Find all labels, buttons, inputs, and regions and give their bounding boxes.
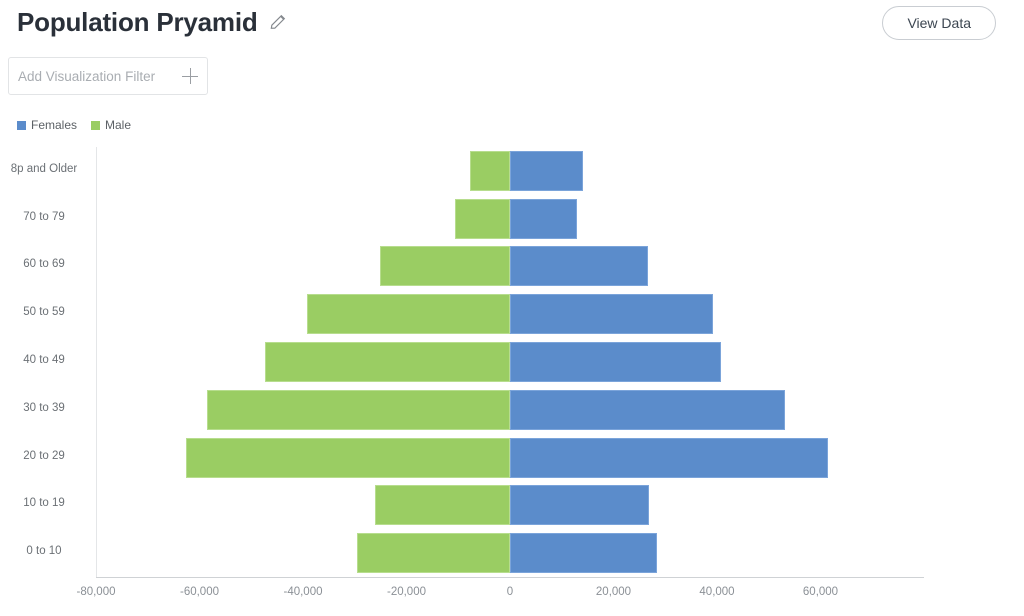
legend-item-male[interactable]: Male [91,118,131,132]
visualization-filter[interactable]: Add Visualization Filter [8,57,208,95]
bar-female[interactable] [510,438,828,478]
y-axis-label: 20 to 29 [0,450,88,462]
bar-male[interactable] [207,390,510,430]
bar-male[interactable] [265,342,510,382]
y-axis-label: 8p and Older [0,163,88,175]
bar-male[interactable] [380,246,510,286]
bar-female[interactable] [510,151,583,191]
x-axis-tick-label: -20,000 [387,586,426,598]
legend-swatch-male [91,121,100,130]
bar-row [96,151,924,191]
plus-icon[interactable] [177,63,203,89]
bar-female[interactable] [510,342,721,382]
y-axis-label: 50 to 59 [0,306,88,318]
x-axis-tick-label: -40,000 [283,586,322,598]
x-axis-line [96,577,924,578]
x-axis-tick-label: 0 [507,586,513,598]
bar-row [96,294,924,334]
bar-male[interactable] [470,151,510,191]
bar-male[interactable] [455,199,510,239]
legend-swatch-females [17,121,26,130]
x-axis-tick-label: 60,000 [803,586,838,598]
x-axis-tick-label: -60,000 [180,586,219,598]
bar-female[interactable] [510,246,648,286]
bar-row [96,390,924,430]
y-axis-label: 0 to 10 [0,545,88,557]
page-header: Population Pryamid View Data [0,0,1024,52]
bar-row [96,246,924,286]
x-axis-tick-label: 40,000 [699,586,734,598]
bar-row [96,342,924,382]
legend-label-females: Females [31,118,77,132]
page-title: Population Pryamid [17,6,258,38]
visualization-filter-placeholder[interactable]: Add Visualization Filter [9,69,177,84]
plot-area [96,147,924,577]
bar-row [96,199,924,239]
y-axis-label: 30 to 39 [0,402,88,414]
bar-row [96,485,924,525]
bar-female[interactable] [510,485,649,525]
population-pyramid-chart: 8p and Older70 to 7960 to 6950 to 5940 t… [0,140,1024,616]
y-axis-label: 70 to 79 [0,211,88,223]
bar-row [96,533,924,573]
legend-item-females[interactable]: Females [17,118,77,132]
x-axis-tick-label: -80,000 [76,586,115,598]
chart-legend: Females Male [17,118,131,132]
bar-male[interactable] [307,294,510,334]
x-axis-tick-label: 20,000 [596,586,631,598]
title-group: Population Pryamid [17,6,288,38]
bar-female[interactable] [510,533,657,573]
bar-female[interactable] [510,294,713,334]
bar-row [96,438,924,478]
y-axis-label: 60 to 69 [0,258,88,270]
y-axis-label: 40 to 49 [0,354,88,366]
bar-male[interactable] [186,438,510,478]
bar-female[interactable] [510,199,577,239]
y-axis-label: 10 to 19 [0,497,88,509]
view-data-button[interactable]: View Data [882,6,996,40]
legend-label-male: Male [105,118,131,132]
bar-male[interactable] [357,533,510,573]
pencil-icon[interactable] [268,12,288,32]
bar-female[interactable] [510,390,785,430]
bar-male[interactable] [375,485,510,525]
